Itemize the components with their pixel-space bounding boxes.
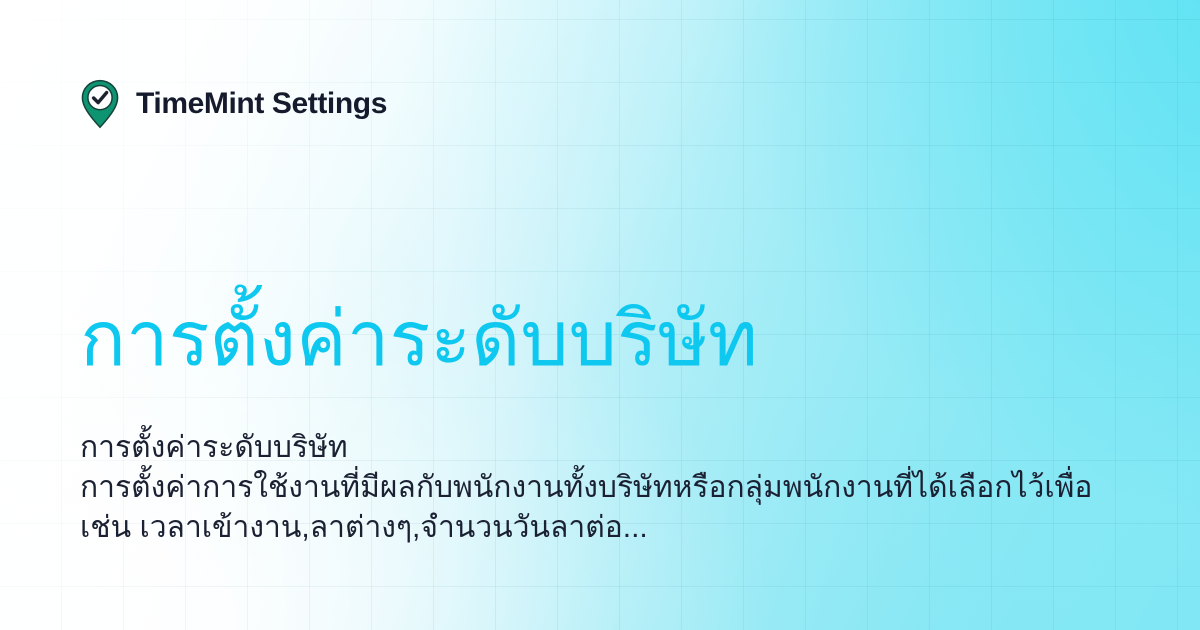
description-line-3: เช่น เวลาเข้างาน,ลาต่างๆ,จำนวนวันลาต่อ..… bbox=[80, 508, 1200, 548]
page-title: การตั้งค่าระดับบริษัท bbox=[80, 296, 758, 383]
description-line-2: การตั้งค่าการใช้งานที่มีผลกับพนักงานทั้ง… bbox=[80, 468, 1200, 508]
map-pin-check-icon bbox=[80, 79, 120, 129]
brand-lockup: TimeMint Settings bbox=[80, 78, 387, 130]
brand-name: TimeMint Settings bbox=[136, 89, 387, 119]
description-block: การตั้งค่าระดับบริษัท การตั้งค่าการใช้งา… bbox=[80, 428, 1200, 548]
share-card: TimeMint Settings การตั้งค่าระดับบริษัท … bbox=[0, 0, 1200, 630]
card-content: TimeMint Settings การตั้งค่าระดับบริษัท … bbox=[0, 0, 1200, 630]
description-line-1: การตั้งค่าระดับบริษัท bbox=[80, 428, 1200, 468]
